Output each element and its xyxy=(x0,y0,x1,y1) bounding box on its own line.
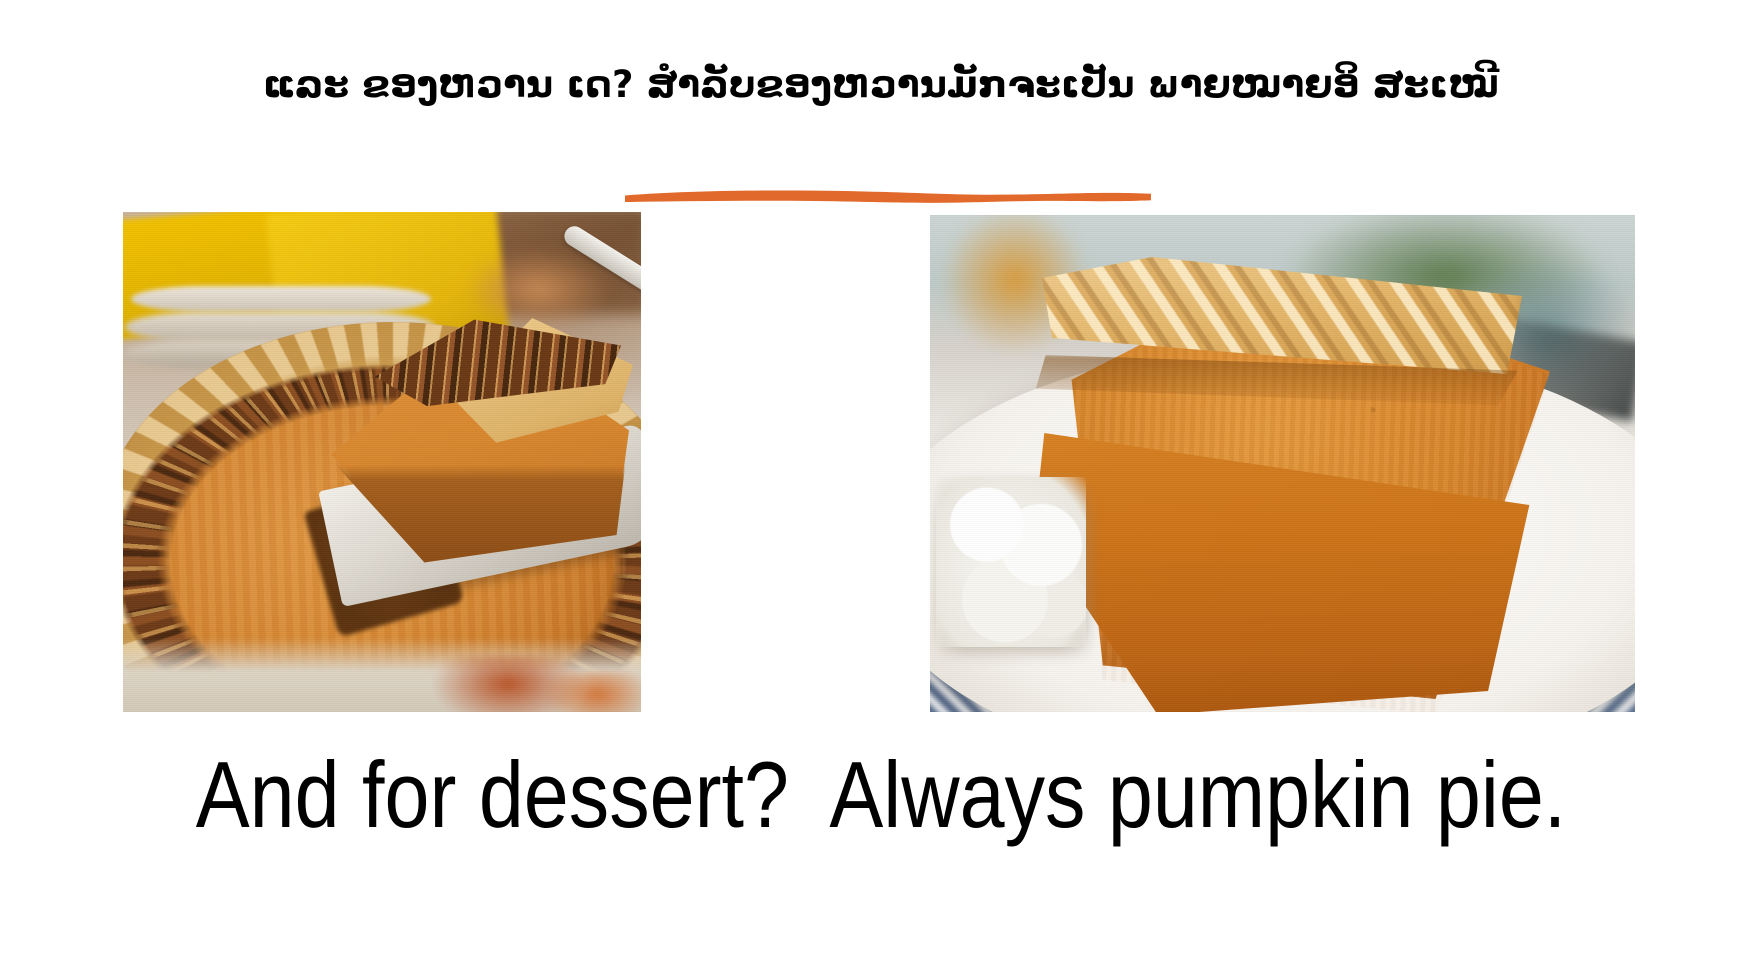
image-pumpkin-pie-slice-with-cream xyxy=(930,215,1635,712)
photo-grain xyxy=(930,215,1635,712)
image-whole-pecan-pumpkin-pie xyxy=(123,212,641,712)
english-caption-text: And for dessert? Always pumpkin pie. xyxy=(123,742,1638,847)
lao-heading-text: ແລະ ຂອງຫວານ ເດ? ສໍາລັບຂອງຫວານມັກຈະເປັນ ພ… xyxy=(0,62,1762,108)
orange-brush-stroke-underline xyxy=(618,178,1158,212)
photo-grain xyxy=(123,212,641,712)
